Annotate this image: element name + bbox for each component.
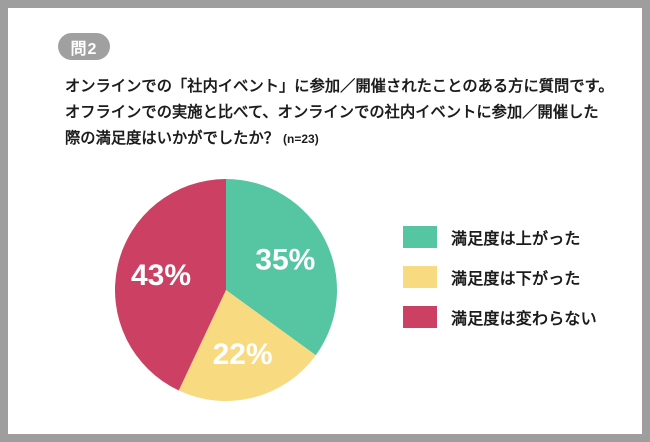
question-number-badge: 問2 — [58, 33, 110, 60]
question-line-3: 際の満足度はいかがでしたか？(n=23) — [65, 126, 625, 152]
legend-swatch-satisfaction-unchanged — [403, 306, 437, 328]
outer-frame: 問2 オンラインでの「社内イベント」に参加／開催されたことのある方に質問です。 … — [0, 0, 650, 442]
question-line-1: オンラインでの「社内イベント」に参加／開催されたことのある方に質問です。 — [65, 74, 625, 100]
legend-swatch-satisfaction-down — [403, 266, 437, 288]
legend-item-satisfaction-up[interactable]: 満足度は上がった — [403, 217, 623, 257]
content-card: 問2 オンラインでの「社内イベント」に参加／開催されたことのある方に質問です。 … — [8, 8, 642, 434]
legend-label-satisfaction-down: 満足度は下がった — [451, 265, 581, 289]
pie-chart: 35%22%43% — [115, 179, 337, 401]
pie-slice-value-label: 22% — [213, 338, 273, 371]
pie-chart-svg: 35%22%43% — [115, 179, 337, 401]
legend-label-satisfaction-up: 満足度は上がった — [451, 225, 581, 249]
pie-slice-value-label: 43% — [131, 259, 191, 292]
question-line-2: オフラインでの実施と比べて、オンラインでの社内イベントに参加／開催した — [65, 100, 625, 126]
legend-item-satisfaction-unchanged[interactable]: 満足度は変わらない — [403, 297, 623, 337]
legend-swatch-satisfaction-up — [403, 226, 437, 248]
sample-size-label: (n=23) — [279, 132, 319, 146]
chart-legend: 満足度は上がった 満足度は下がった 満足度は変わらない — [403, 217, 623, 337]
legend-label-satisfaction-unchanged: 満足度は変わらない — [451, 305, 597, 329]
question-text: オンラインでの「社内イベント」に参加／開催されたことのある方に質問です。 オフラ… — [65, 74, 625, 152]
question-line-3-text: 際の満足度はいかがでしたか？ — [65, 130, 279, 147]
legend-item-satisfaction-down[interactable]: 満足度は下がった — [403, 257, 623, 297]
pie-slice-value-label: 35% — [255, 243, 315, 276]
